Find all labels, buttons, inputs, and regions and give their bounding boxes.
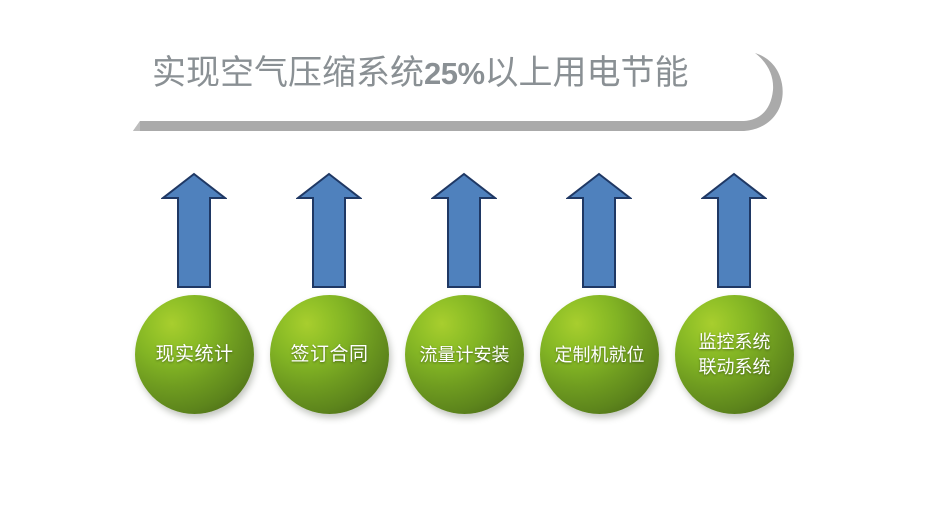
process-node-1-label: 现实统计 <box>153 343 235 367</box>
page-title-percent: 25% <box>424 52 485 96</box>
process-node-5-label: 监控系统 联动系统 <box>697 330 773 380</box>
page-title-suffix: 以上用电节能 <box>485 52 689 96</box>
process-node-3[interactable]: 流量计安装 <box>405 295 524 414</box>
title-banner: 实现空气压缩系统25%以上用电节能 <box>0 0 945 160</box>
process-node-3-label: 流量计安装 <box>418 343 512 367</box>
process-node-2[interactable]: 签订合同 <box>270 295 389 414</box>
process-node-1[interactable]: 现实统计 <box>135 295 254 414</box>
page-title-prefix: 实现空气压缩系统 <box>152 52 424 96</box>
page-title: 实现空气压缩系统25%以上用电节能 <box>152 48 752 100</box>
process-node-4[interactable]: 定制机就位 <box>540 295 659 414</box>
process-node-5[interactable]: 监控系统 联动系统 <box>675 295 794 414</box>
process-node-4-label: 定制机就位 <box>553 343 647 367</box>
up-arrow-icon-5 <box>701 172 767 290</box>
up-arrow-icon-3 <box>431 172 497 290</box>
process-node-2-label: 签订合同 <box>288 343 370 367</box>
up-arrow-icon-4 <box>566 172 632 290</box>
slide-canvas: 实现空气压缩系统25%以上用电节能 现实统计 签订合同 流量计安装 定制机就位 … <box>0 0 945 529</box>
up-arrow-icon-2 <box>296 172 362 290</box>
up-arrow-icon-1 <box>161 172 227 290</box>
banner-shape-icon <box>0 0 945 160</box>
